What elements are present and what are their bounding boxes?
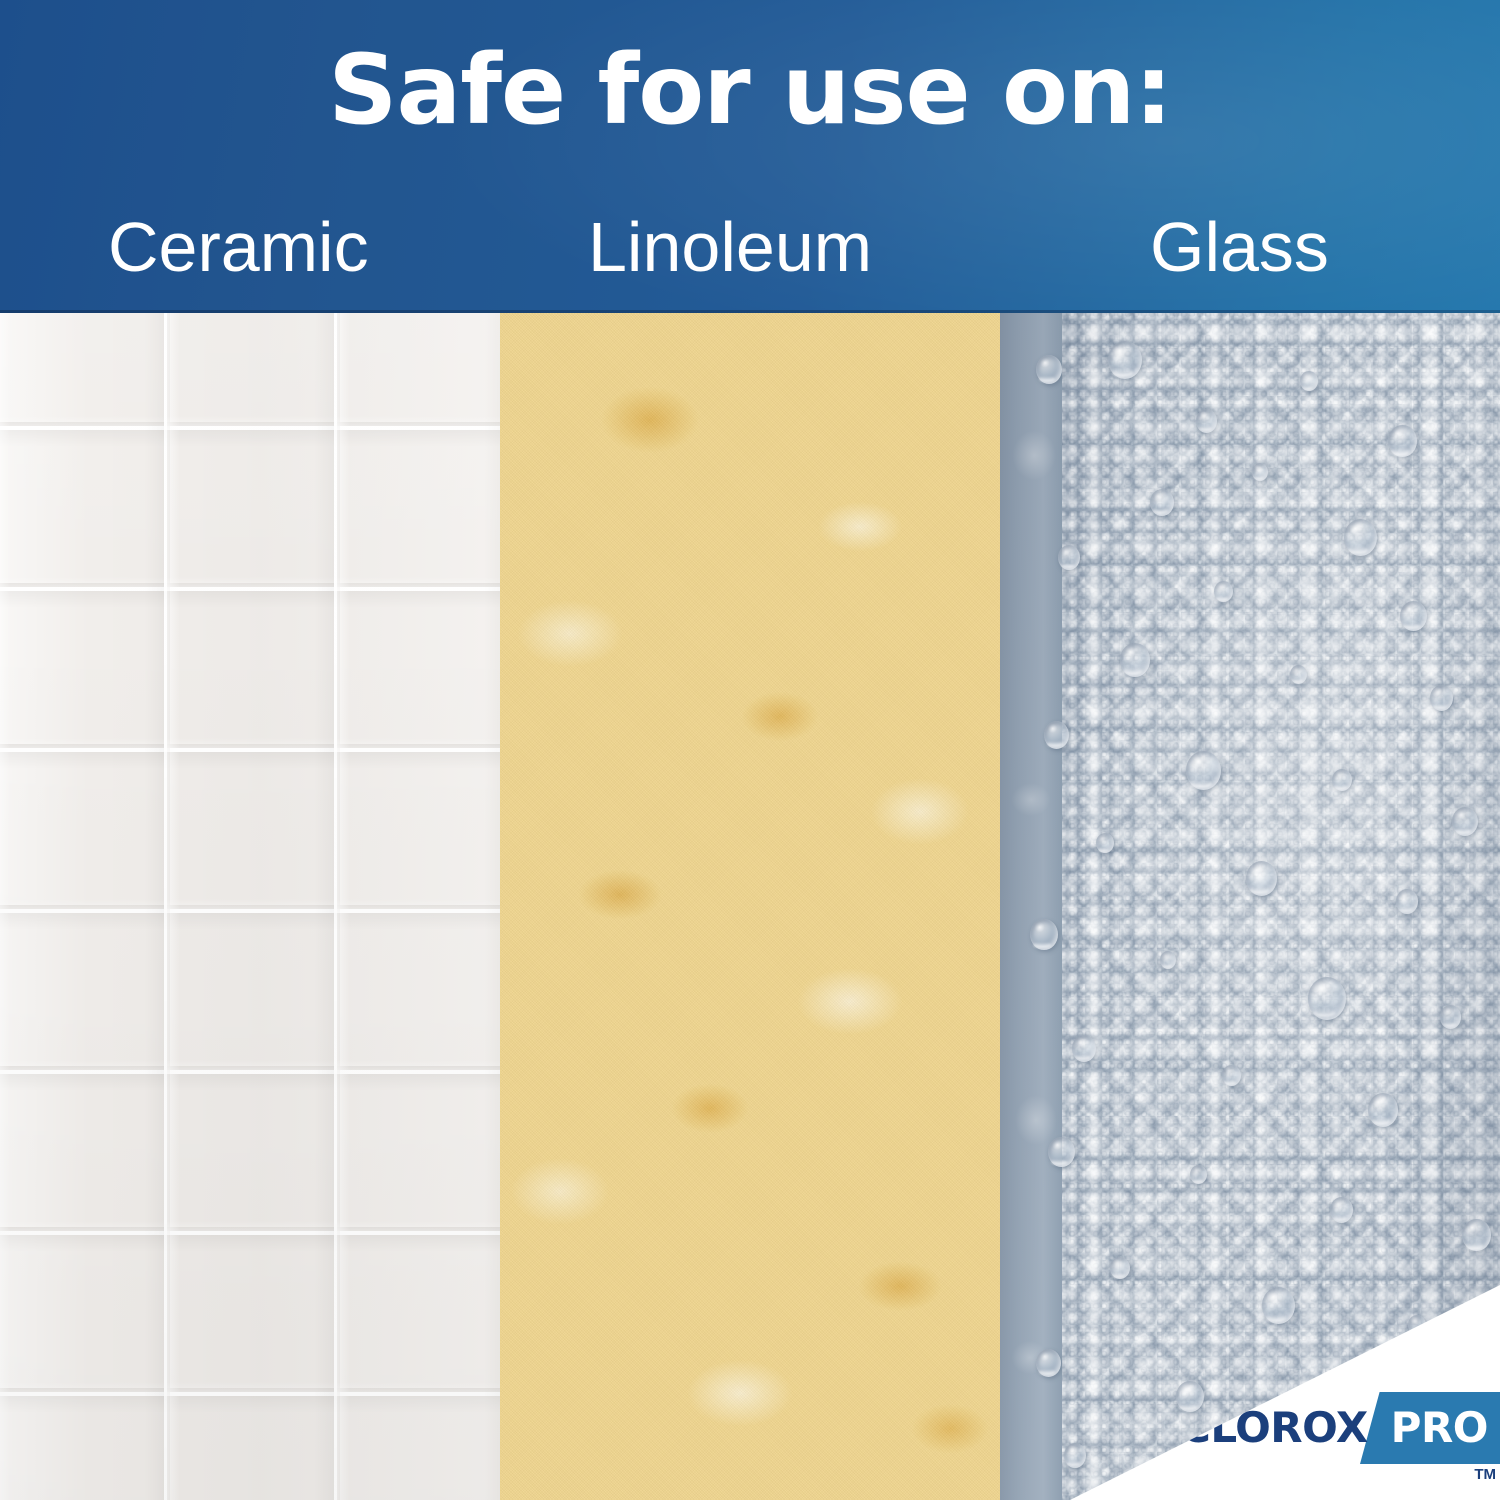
water-bead xyxy=(1036,355,1062,384)
water-bead xyxy=(1072,1035,1096,1062)
water-bead xyxy=(1150,489,1174,516)
water-bead xyxy=(1290,665,1307,684)
ceramic-shading-overlay xyxy=(0,313,500,1500)
surface-label-ceramic: Ceramic xyxy=(108,195,369,300)
water-bead xyxy=(1048,1137,1075,1167)
panel-glass xyxy=(1000,313,1500,1500)
panel-linoleum xyxy=(500,313,1000,1500)
surface-label-row: Ceramic Linoleum Glass xyxy=(0,195,1500,300)
page-title: Safe for use on: xyxy=(0,42,1500,138)
water-bead xyxy=(1186,751,1221,790)
water-bead xyxy=(1452,807,1478,836)
water-bead xyxy=(1108,341,1142,379)
water-bead xyxy=(1330,1197,1353,1223)
water-bead xyxy=(1160,951,1176,969)
water-bead xyxy=(1044,721,1069,749)
promo-graphic: Safe for use on: Ceramic Linoleum Glass xyxy=(0,0,1500,1500)
panel-ceramic xyxy=(0,313,500,1500)
linoleum-grain-texture xyxy=(500,313,1000,1500)
water-bead xyxy=(1120,643,1150,677)
water-bead xyxy=(1252,463,1268,481)
header-banner: Safe for use on: Ceramic Linoleum Glass xyxy=(0,0,1500,313)
water-bead xyxy=(1430,685,1453,711)
water-bead xyxy=(1396,889,1418,914)
water-bead xyxy=(1064,1443,1086,1468)
water-bead xyxy=(1246,861,1277,896)
water-bead xyxy=(1368,1093,1398,1127)
water-bead xyxy=(1300,371,1318,391)
water-bead xyxy=(1262,1287,1295,1324)
logo-trademark: TM xyxy=(1474,1467,1496,1482)
logo-brand-secondary: PRO xyxy=(1391,1406,1488,1450)
water-bead xyxy=(1440,1005,1461,1029)
surface-label-glass: Glass xyxy=(1150,195,1329,300)
surface-panels xyxy=(0,313,1500,1500)
water-bead xyxy=(1036,1349,1061,1377)
water-bead xyxy=(1400,601,1427,631)
water-bead xyxy=(1308,977,1346,1020)
water-bead xyxy=(1058,545,1080,570)
surface-label-linoleum: Linoleum xyxy=(588,195,872,300)
water-bead xyxy=(1096,833,1114,853)
water-bead xyxy=(1190,1165,1207,1184)
water-bead xyxy=(1344,519,1377,556)
water-bead xyxy=(1196,409,1217,433)
